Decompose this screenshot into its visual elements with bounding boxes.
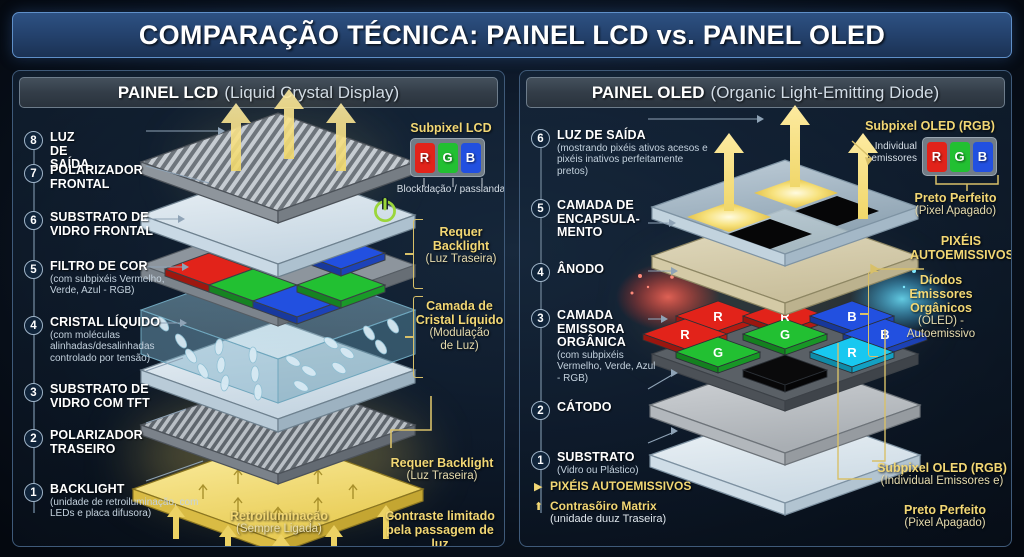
oled-layer-badge-5: 5 <box>531 199 550 218</box>
oled-subpixel-letter: R <box>847 345 857 360</box>
lcd-layer-label-7: POLARIZADOR FRONTAL <box>50 164 160 191</box>
oled-layer-title-3: CAMADA EMISSORA ORGÂNICA <box>557 309 661 350</box>
oled-ann-diodes-l4: (OLED) - <box>878 315 1004 328</box>
oled-layer-label-6: LUZ DE SAÍDA (mostrando pixéis ativos ac… <box>557 129 717 177</box>
oled-subpixel-title-text: Subpixel OLED (RGB) <box>850 119 1010 133</box>
diagram-root: COMPARAÇÃO TÉCNICA: PAINEL LCD vs. PAINE… <box>0 0 1024 557</box>
oled-layer-label-5: CAMADA DE ENCAPSULA- MENTO <box>557 199 647 240</box>
lcd-layer-label-2: POLARIZADOR TRASEIRO <box>50 429 162 456</box>
oled-subpixel-letter: G <box>713 345 723 360</box>
lcd-ann-lc-l2: Cristal Líquido <box>413 313 505 327</box>
oled-ann-subbtm-l2: (Individual Emissores e) <box>872 475 1012 488</box>
oled-ann-subbtm-l1: Subpixel OLED (RGB) <box>872 461 1012 475</box>
lcd-subpixel-title-text: Subpixel LCD <box>401 121 501 135</box>
lcd-ann-lc-l1: Camada de <box>413 299 505 313</box>
lcd-layer-sub-5: (com subpixéis Vermelho, Verde, Azul - R… <box>50 274 170 297</box>
lcd-ann-retro-l2: (Sempre Ligada) <box>209 523 349 536</box>
lcd-subpixel-b: B <box>461 143 481 173</box>
oled-legend-title-2: Contrasõiro Matrix <box>550 499 754 513</box>
oled-annotation-subpixel-bottom: Subpixel OLED (RGB) (Individual Emissore… <box>872 461 1012 488</box>
lcd-subpixel-note: BlockIdação / passianda <box>395 184 505 196</box>
lcd-layer-badge-6: 6 <box>24 211 43 230</box>
lcd-annotation-requires-backlight-bottom: Requer Backlight (Luz Traseira) <box>383 456 501 483</box>
lcd-layer-badge-4: 4 <box>24 316 43 335</box>
oled-ann-blackbtm-l2: (Pixel Apagado) <box>878 517 1012 530</box>
lcd-layer-label-1: BACKLIGHT (unidade de retroiluminação, c… <box>50 483 200 520</box>
triangle-right-icon: ▶ <box>534 480 542 493</box>
lcd-subpixel-note-text: BlockIdação / passianda <box>395 184 505 196</box>
oled-annotation-self-emissive-pixels: PIXÉIS AUTOEMISSIVOS <box>910 234 1012 262</box>
lcd-layer-title-7: POLARIZADOR FRONTAL <box>50 164 160 191</box>
oled-ann-blackbtm-l1: Preto Perfeito <box>878 503 1012 517</box>
lcd-layer-title-2: POLARIZADOR TRASEIRO <box>50 429 162 456</box>
lcd-ann-retro-l1: Retroiluminação <box>209 509 349 523</box>
oled-ann-black-l1: Preto Perfeito <box>898 191 1012 205</box>
oled-subpixel-letter: R <box>680 327 690 342</box>
oled-subpixel-letter: G <box>780 327 790 342</box>
oled-annotation-perfect-black-top: Preto Perfeito (Pixel Apagado) <box>898 191 1012 218</box>
oled-subpixel-letter: R <box>713 309 723 324</box>
lcd-layer-badge-3: 3 <box>24 383 43 402</box>
oled-annotation-perfect-black-bottom: Preto Perfeito (Pixel Apagado) <box>878 503 1012 530</box>
oled-layer-badge-2: 2 <box>531 401 550 420</box>
lcd-annotation-requires-backlight-top: Requer Backlight (Luz Traseira) <box>417 225 505 266</box>
oled-layer-label-2: CÁTODO <box>557 401 647 415</box>
oled-layer-badge-1: 1 <box>531 451 550 470</box>
oled-layer-sub-1: (Vidro ou Plástico) <box>557 465 667 477</box>
lcd-subpixel-r: R <box>415 143 435 173</box>
oled-annotation-organic-diodes: Díodos Emissores Orgânicos (OLED) - Auto… <box>878 273 1004 341</box>
oled-ann-selfem-l1: PIXÉIS <box>910 234 1012 248</box>
oled-legend: ▶ PIXÉIS AUTOEMISSIVOS ⬆ Contrasõiro Mat… <box>534 479 754 528</box>
lcd-layer-title-1: BACKLIGHT <box>50 483 200 497</box>
oled-layer-badge-6: 6 <box>531 129 550 148</box>
lcd-ann-backlight-l2: Backlight <box>417 239 505 253</box>
lcd-layer-badge-1: 1 <box>24 483 43 502</box>
lcd-layer-title-3: SUBSTRATO DE VIDRO COM TFT <box>50 383 168 410</box>
page-title-text: COMPARAÇÃO TÉCNICA: PAINEL LCD vs. PAINE… <box>139 20 885 51</box>
oled-layer-title-4: ÂNODO <box>557 263 647 277</box>
lcd-layer-title-6: SUBSTRATO DE VIDRO FRONTAL <box>50 211 162 238</box>
lcd-layer-sub-4: (com moléculas alinhadas/desalinhadas co… <box>50 330 168 365</box>
lcd-annotation-liquid-crystal-layer: Camada de Cristal Líquido (Modulação de … <box>413 299 505 353</box>
lcd-subpixel-title: Subpixel LCD <box>401 121 501 135</box>
lcd-ann-contrast-l2: pela passagem de luz <box>377 523 503 547</box>
lcd-subpixel-g: G <box>438 143 458 173</box>
oled-subpixel-letter: B <box>847 309 856 324</box>
lcd-layer-title-4: CRISTAL LÍQUIDO <box>50 316 168 330</box>
power-icon <box>371 196 399 224</box>
oled-layer-title-1: SUBSTRATO <box>557 451 667 465</box>
oled-layer-title-6: LUZ DE SAÍDA <box>557 129 717 143</box>
lcd-layer-label-5: FILTRO DE COR (com subpixéis Vermelho, V… <box>50 260 170 297</box>
lcd-ann-backlight-l3: (Luz Traseira) <box>417 253 505 266</box>
oled-layer-sub-6: (mostrando pixéis ativos acesos e pixéis… <box>557 143 717 178</box>
oled-layer-label-1: SUBSTRATO (Vidro ou Plástico) <box>557 451 667 476</box>
oled-layer-sub-3: (com subpixéis Vermelho, Verde, Azul - R… <box>557 350 661 385</box>
oled-bracket-diodes <box>868 271 878 357</box>
oled-layer-title-2: CÁTODO <box>557 401 647 415</box>
oled-legend-sub-2: (unidade duuz Traseira) <box>550 513 754 526</box>
lcd-layer-label-6: SUBSTRATO DE VIDRO FRONTAL <box>50 211 162 238</box>
oled-subpixel-title: Subpixel OLED (RGB) <box>850 119 1010 133</box>
lcd-ann-bl2-l1: Requer Backlight <box>383 456 501 470</box>
lcd-ann-bl2-l2: (Luz Traseira) <box>383 470 501 483</box>
lcd-backlight-connector <box>383 396 453 456</box>
lcd-ann-contrast-l1: Contraste limitado <box>377 509 503 523</box>
oled-layer-label-3: CAMADA EMISSORA ORGÂNICA (com subpixéis … <box>557 309 661 384</box>
oled-subpixel-side-note: Individual emissores <box>853 141 917 164</box>
lcd-panel: PAINEL LCD (Liquid Crystal Display) <box>12 70 505 547</box>
oled-ann-diodes-l3: Orgânicos <box>878 301 1004 315</box>
lcd-layer-badge-7: 7 <box>24 164 43 183</box>
lcd-ann-lc-l4: de Luz) <box>413 340 505 353</box>
oled-layer-label-4: ÂNODO <box>557 263 647 277</box>
lcd-layer-title-5: FILTRO DE COR <box>50 260 170 274</box>
oled-legend-title-1: PIXÉIS AUTOEMISSIVOS <box>550 479 754 493</box>
oled-ann-diodes-l5: Autoemissivo <box>878 328 1004 341</box>
oled-bracket-diodes-stem <box>860 313 869 315</box>
lcd-annotation-retroiluminacao: Retroiluminação (Sempre Ligada) <box>209 509 349 536</box>
oled-ann-diodes-l1: Díodos <box>878 273 1004 287</box>
lcd-bracket-backlight-stem <box>405 253 414 255</box>
lcd-ann-backlight-l1: Requer <box>417 225 505 239</box>
oled-subpixel-r: R <box>927 142 947 172</box>
lcd-layer-badge-5: 5 <box>24 260 43 279</box>
oled-layer-badge-4: 4 <box>531 263 550 282</box>
oled-ann-selfem-l2: AUTOEMISSIVOS <box>910 248 1012 262</box>
lcd-ann-lc-l3: (Modulação <box>413 327 505 340</box>
oled-subpixel-b: B <box>973 142 993 172</box>
lcd-annotation-limited-contrast: Contraste limitado pela passagem de luz <box>377 509 503 547</box>
lcd-subpixel-chip[interactable]: R G B <box>410 138 485 177</box>
lcd-layer-badge-8: 8 <box>24 131 43 150</box>
oled-legend-row-2: ⬆ Contrasõiro Matrix (unidade duuz Trase… <box>534 499 754 526</box>
oled-subpixel-g: G <box>950 142 970 172</box>
oled-ann-diodes-l2: Emissores <box>878 287 1004 301</box>
lcd-layer-badge-2: 2 <box>24 429 43 448</box>
oled-layer-title-5: CAMADA DE ENCAPSULA- MENTO <box>557 199 647 240</box>
oled-subpixel-chip[interactable]: R G B <box>922 137 997 176</box>
page-title: COMPARAÇÃO TÉCNICA: PAINEL LCD vs. PAINE… <box>12 12 1012 58</box>
lcd-layer-label-4: CRISTAL LÍQUIDO (com moléculas alinhadas… <box>50 316 168 364</box>
lcd-layer-sub-1: (unidade de retroiluminação, com LEDs e … <box>50 497 200 520</box>
oled-panel: PAINEL OLED (Organic Light-Emitting Diod… <box>519 70 1012 547</box>
oled-ann-black-l2: (Pixel Apagado) <box>898 205 1012 218</box>
oled-subpixel-side-note-text: Individual emissores <box>853 141 917 164</box>
oled-layer-badge-3: 3 <box>531 309 550 328</box>
arrow-up-icon: ⬆ <box>534 500 543 513</box>
oled-legend-row-1: ▶ PIXÉIS AUTOEMISSIVOS <box>534 479 754 493</box>
lcd-layer-label-3: SUBSTRATO DE VIDRO COM TFT <box>50 383 168 410</box>
